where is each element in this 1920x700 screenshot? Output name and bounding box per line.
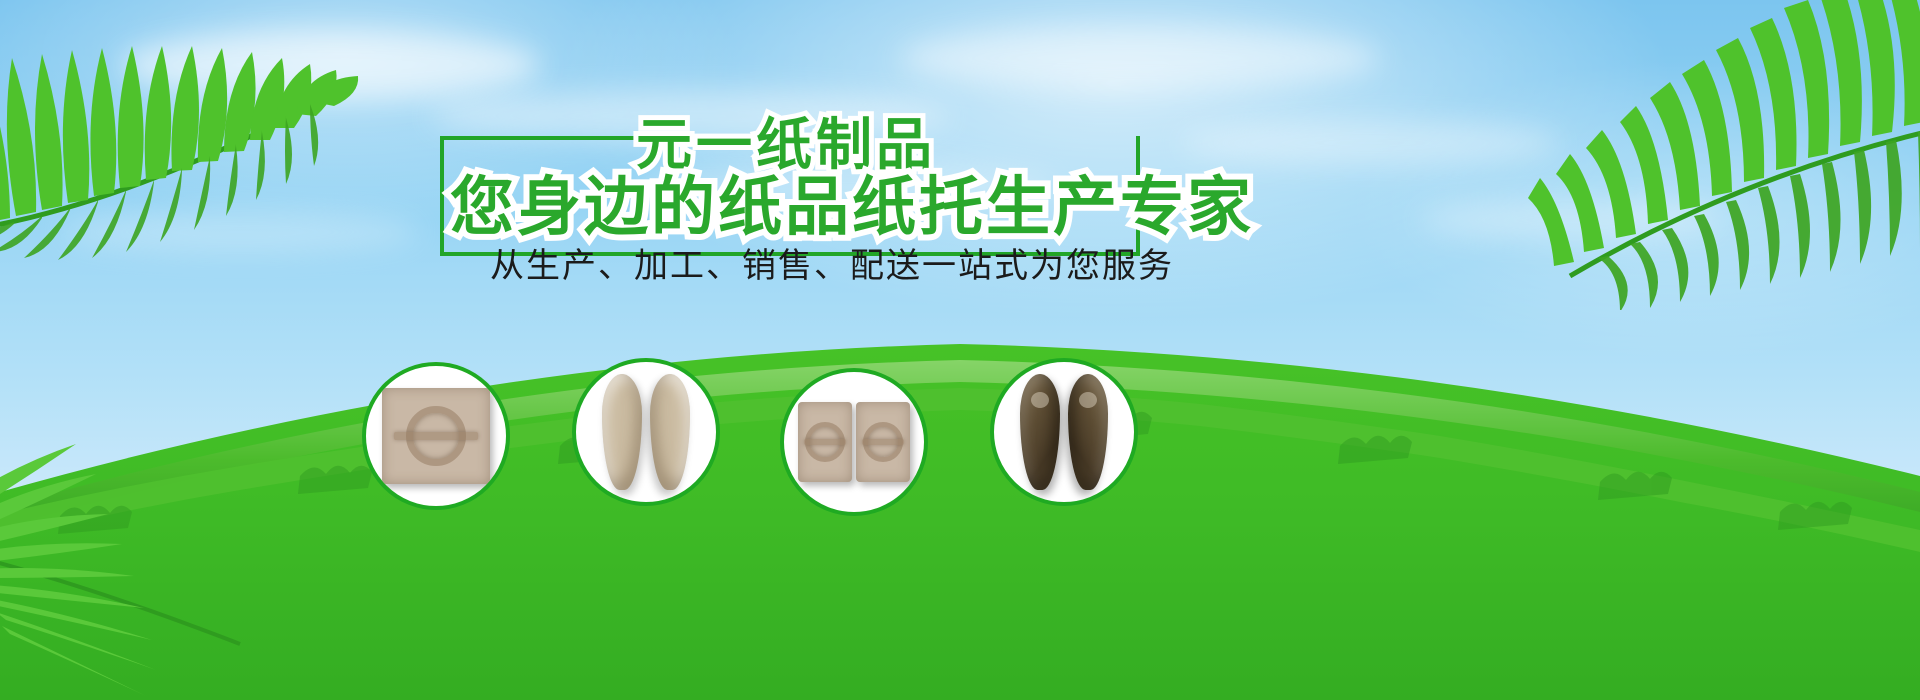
headline-line-2: 您身边的纸品纸托生产专家 xyxy=(450,156,1254,248)
palm-leaf-icon xyxy=(0,0,400,280)
molded-pulp-shoe-tree-pair-light-image xyxy=(602,374,690,490)
molded-pulp-double-tray-image xyxy=(798,402,910,482)
molded-pulp-square-tray-image xyxy=(382,388,490,484)
pulp-tray-left xyxy=(798,402,852,482)
headline-block: 元一纸制品 您身边的纸品纸托生产专家 xyxy=(440,100,1140,228)
product-circle-4[interactable] xyxy=(990,358,1138,506)
shoe-tree-left xyxy=(1020,374,1060,490)
banner-subtitle: 从生产、加工、销售、配送一站式为您服务 xyxy=(490,238,1174,287)
product-circle-2[interactable] xyxy=(572,358,720,506)
shoe-tree-left xyxy=(602,374,642,490)
palm-leaf-icon xyxy=(0,430,270,700)
shoe-tree-right xyxy=(1068,374,1108,490)
product-circle-1[interactable] xyxy=(362,362,510,510)
promo-banner: 元一纸制品 您身边的纸品纸托生产专家 从生产、加工、销售、配送一站式为您服务 xyxy=(0,0,1920,700)
molded-pulp-shoe-tree-pair-dark-image xyxy=(1020,374,1108,490)
pulp-tray-right xyxy=(856,402,910,482)
grass-hill xyxy=(0,300,1920,700)
product-circle-3[interactable] xyxy=(780,368,928,516)
shoe-tree-right xyxy=(650,374,690,490)
palm-leaf-icon xyxy=(1320,0,1920,310)
cloud-decoration xyxy=(900,26,1380,90)
